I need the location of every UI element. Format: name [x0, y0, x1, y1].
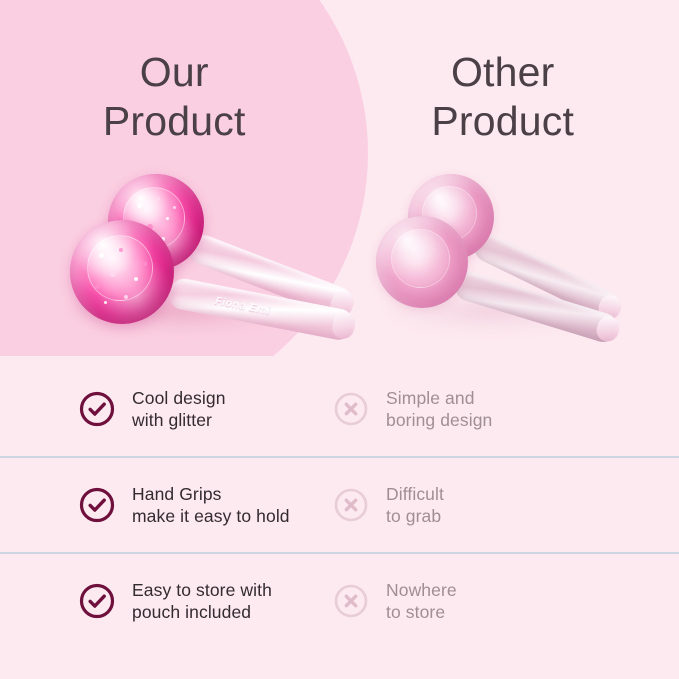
column-headers: Our Product Other Product: [0, 48, 679, 163]
our-product-heading: Our Product: [0, 48, 339, 163]
other-product-drawback: Difficult to grab: [310, 483, 679, 527]
other-product-heading-line1: Other: [339, 48, 668, 97]
check-circle-icon: [78, 486, 116, 524]
handle-cap: [594, 314, 622, 344]
our-product-heading-line2: Product: [10, 97, 339, 146]
our-product-image: Fiona Emi: [60, 168, 320, 353]
other-product-drawback: Nowhere to store: [310, 579, 679, 623]
brand-label: Fiona Emi: [214, 294, 271, 316]
drawback-line-1: Nowhere: [386, 579, 457, 601]
drawback-text: Simple and boring design: [386, 387, 492, 431]
comparison-row: Hand Grips make it easy to hold Difficul…: [0, 456, 679, 552]
glitter-sparkle: [110, 271, 116, 277]
glitter-sparkle: [166, 217, 169, 220]
feature-line-2: pouch included: [132, 601, 272, 623]
glitter-sparkle: [124, 295, 128, 299]
drawback-line-2: boring design: [386, 409, 492, 431]
glitter-sparkle: [173, 206, 176, 209]
feature-line-1: Easy to store with: [132, 579, 272, 601]
handle-cap: [330, 310, 357, 341]
feature-text: Cool design with glitter: [132, 387, 226, 431]
other-product-heading-line2: Product: [339, 97, 668, 146]
product-images: Fiona Emi: [0, 160, 679, 360]
feature-text: Easy to store with pouch included: [132, 579, 272, 623]
other-product-image: [372, 172, 622, 352]
feature-text: Hand Grips make it easy to hold: [132, 483, 290, 527]
other-product-heading: Other Product: [339, 48, 679, 163]
glitter-sparkle: [104, 301, 107, 304]
glitter-sparkle: [119, 248, 123, 252]
check-circle-icon: [78, 390, 116, 428]
globe-inner-highlight: [87, 235, 153, 301]
comparison-infographic: Our Product Other Product Fiona Emi: [0, 0, 679, 679]
drawback-line-2: to grab: [386, 505, 444, 527]
our-product-feature: Easy to store with pouch included: [0, 579, 310, 623]
other-product-drawback: Simple and boring design: [310, 387, 679, 431]
drawback-text: Difficult to grab: [386, 483, 444, 527]
comparison-row: Easy to store with pouch included Nowher…: [0, 552, 679, 648]
other-product-globe-lower: [376, 216, 468, 308]
cross-circle-icon: [332, 390, 370, 428]
comparison-table: Cool design with glitter Simple and bori…: [0, 362, 679, 648]
glitter-sparkle: [137, 203, 142, 208]
feature-line-1: Hand Grips: [132, 483, 290, 505]
our-product-globe-lower: [70, 220, 174, 324]
cross-circle-icon: [332, 486, 370, 524]
globe-inner-highlight: [391, 229, 450, 288]
our-product-heading-line1: Our: [10, 48, 339, 97]
our-product-feature: Cool design with glitter: [0, 387, 310, 431]
drawback-text: Nowhere to store: [386, 579, 457, 623]
drawback-line-2: to store: [386, 601, 457, 623]
drawback-line-1: Difficult: [386, 483, 444, 505]
glitter-sparkle: [156, 197, 160, 201]
feature-line-1: Cool design: [132, 387, 226, 409]
check-circle-icon: [78, 582, 116, 620]
glitter-sparkle: [143, 262, 147, 266]
cross-circle-icon: [332, 582, 370, 620]
feature-line-2: with glitter: [132, 409, 226, 431]
feature-line-2: make it easy to hold: [132, 505, 290, 527]
drawback-line-1: Simple and: [386, 387, 492, 409]
our-product-feature: Hand Grips make it easy to hold: [0, 483, 310, 527]
comparison-row: Cool design with glitter Simple and bori…: [0, 362, 679, 456]
